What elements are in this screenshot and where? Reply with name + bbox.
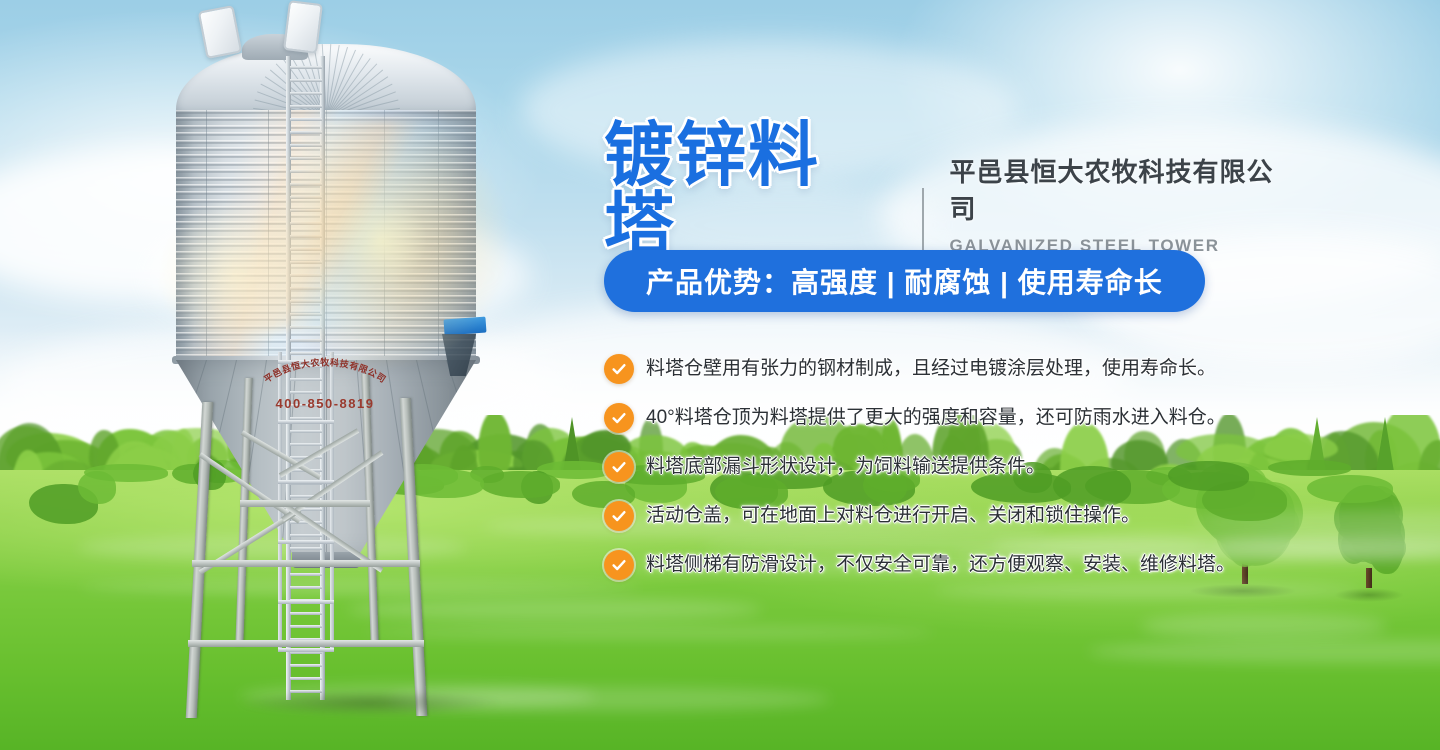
feature-item: 料塔底部漏斗形状设计，为饲料输送提供条件。	[604, 452, 1294, 482]
silo-hatch-lid-right	[283, 0, 323, 54]
feature-item: 活动仓盖，可在地面上对料仓进行开启、关闭和锁住操作。	[604, 501, 1294, 531]
feed-silo-image: 平邑县恒大农牧科技有限公司 400-850-8819	[90, 0, 520, 750]
ladder-cage-hoop	[278, 420, 334, 424]
check-icon	[604, 452, 634, 482]
ladder-rung	[290, 222, 322, 225]
ladder-cage-hoop	[278, 648, 334, 652]
check-icon	[604, 501, 634, 531]
ladder-rung	[290, 274, 322, 277]
decal-company-text: 平邑县恒大农牧科技有限公司	[262, 357, 388, 385]
feature-text: 料塔仓壁用有张力的钢材制成，且经过电镀涂层处理，使用寿命长。	[646, 354, 1216, 384]
ladder-rung	[290, 144, 322, 147]
silo-panel-seam	[268, 110, 269, 362]
silo-panel-seam	[206, 110, 207, 362]
silo-decal: 平邑县恒大农牧科技有限公司 400-850-8819	[240, 348, 410, 416]
ladder-rung	[290, 209, 322, 212]
ladder-rung	[290, 66, 322, 69]
ladder-rung	[290, 677, 322, 680]
ladder-rung	[290, 664, 322, 667]
company-block: 平邑县恒大农牧科技有限公司 GALVANIZED STEEL TOWER	[950, 152, 1300, 260]
product-hero-banner: 平邑县恒大农牧科技有限公司 400-850-8819 镀锌料塔 平邑县恒大农牧科…	[0, 0, 1440, 750]
feature-text: 料塔底部漏斗形状设计，为饲料输送提供条件。	[646, 452, 1045, 482]
ladder-rung	[290, 105, 322, 108]
ladder-cage-hoop	[278, 540, 334, 544]
ladder-rung	[290, 326, 322, 329]
ladder-rung	[290, 79, 322, 82]
feature-item: 料塔侧梯有防滑设计，不仅安全可靠，还方便观察、安装、维修料塔。	[604, 550, 1294, 580]
feature-list: 料塔仓壁用有张力的钢材制成，且经过电镀涂层处理，使用寿命长。40°料塔仓顶为料塔…	[604, 354, 1294, 599]
ladder-cage-hoop	[278, 600, 334, 604]
company-name: 平邑县恒大农牧科技有限公司	[950, 152, 1300, 226]
ladder-rung	[290, 196, 322, 199]
product-advantages-text: 产品优势：高强度 | 耐腐蚀 | 使用寿命长	[646, 261, 1163, 301]
silo-hatch-lid-left	[198, 5, 242, 59]
feature-text: 活动仓盖，可在地面上对料仓进行开启、关闭和锁住操作。	[646, 501, 1140, 531]
ladder-rung	[290, 287, 322, 290]
silo-panel-seam	[438, 110, 439, 362]
ladder-rung	[290, 235, 322, 238]
silo-panel-seam	[384, 110, 385, 362]
ladder-cage-hoop	[278, 480, 334, 484]
ladder-rung	[290, 131, 322, 134]
feature-item: 料塔仓壁用有张力的钢材制成，且经过电镀涂层处理，使用寿命长。	[604, 354, 1294, 384]
product-advantages-badge: 产品优势：高强度 | 耐腐蚀 | 使用寿命长	[604, 250, 1205, 312]
leg-horizontal-brace	[192, 560, 420, 567]
leg-horizontal-brace	[188, 640, 424, 647]
ladder-rung	[290, 183, 322, 186]
check-icon	[604, 403, 634, 433]
feature-item: 40°料塔仓顶为料塔提供了更大的强度和容量，还可防雨水进入料仓。	[604, 403, 1294, 433]
ladder-rung	[290, 547, 322, 550]
feature-text: 料塔侧梯有防滑设计，不仅安全可靠，还方便观察、安装、维修料塔。	[646, 550, 1235, 580]
decal-phone-text: 400-850-8819	[276, 396, 375, 411]
ladder-rung	[290, 300, 322, 303]
silo-cylinder-body	[176, 110, 476, 362]
ladder-rung	[290, 430, 322, 433]
leg-horizontal-brace	[240, 500, 370, 507]
silo-panel-seam	[326, 110, 327, 362]
ladder-rung	[290, 612, 322, 615]
ladder-rung	[290, 339, 322, 342]
ladder-rung	[290, 313, 322, 316]
page-title: 镀锌料塔	[604, 120, 892, 260]
ladder-rung	[290, 157, 322, 160]
ladder-rung	[290, 118, 322, 121]
feature-text: 40°料塔仓顶为料塔提供了更大的强度和容量，还可防雨水进入料仓。	[646, 403, 1226, 433]
ladder-rung	[290, 586, 322, 589]
check-icon	[604, 550, 634, 580]
shrub	[1307, 475, 1394, 503]
check-icon	[604, 354, 634, 384]
title-row: 镀锌料塔 平邑县恒大农牧科技有限公司 GALVANIZED STEEL TOWE…	[604, 120, 1300, 260]
svg-text:平邑县恒大农牧科技有限公司: 平邑县恒大农牧科技有限公司	[262, 357, 388, 385]
ladder-rung	[290, 625, 322, 628]
silo-cone-fold	[101, 360, 177, 546]
silo-blue-collar	[443, 317, 486, 336]
ladder-rung	[290, 534, 322, 537]
ladder-rung	[290, 443, 322, 446]
hero-content: 镀锌料塔 平邑县恒大农牧科技有限公司 GALVANIZED STEEL TOWE…	[600, 0, 1300, 750]
ladder-rung	[290, 261, 322, 264]
silo-ground-shadow	[240, 690, 500, 716]
ladder-rung	[290, 573, 322, 576]
ladder-rung	[290, 248, 322, 251]
ladder-rung	[290, 92, 322, 95]
foreground-tree-right-trunk	[1366, 568, 1372, 588]
ladder-rung	[290, 170, 322, 173]
silo-cone-fold	[446, 360, 507, 551]
title-divider	[922, 188, 924, 254]
